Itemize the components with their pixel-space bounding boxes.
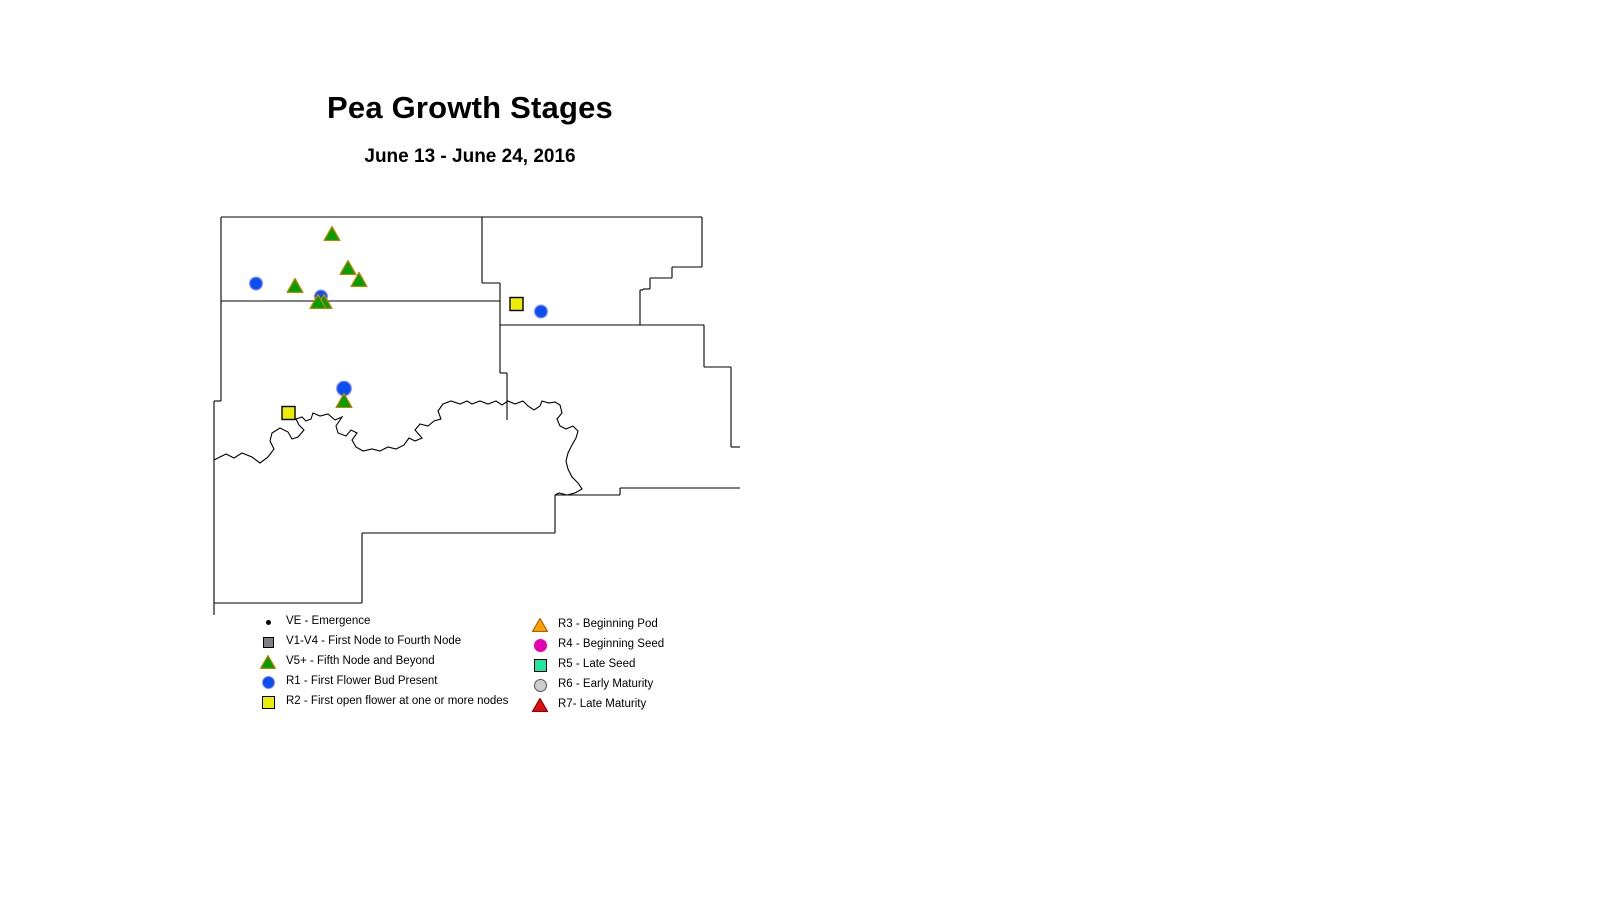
legend-left-column: VE - Emergence V1-V4 - First Node to Fou…	[258, 612, 508, 712]
legend-label: R6 - Early Maturity	[558, 679, 653, 691]
legend-label: V1-V4 - First Node to Fourth Node	[286, 636, 461, 648]
marker-r1	[534, 304, 549, 324]
marker-v5-plus	[324, 226, 341, 246]
r6-gray-circle-icon	[530, 675, 550, 695]
legend-item-r4[interactable]: R4 - Beginning Seed	[530, 635, 664, 655]
legend-item-r3[interactable]: R3 - Beginning Pod	[530, 615, 664, 635]
legend-item-r6[interactable]: R6 - Early Maturity	[530, 675, 664, 695]
title-block: Pea Growth Stages June 13 - June 24, 201…	[220, 90, 720, 168]
marker-v5-plus	[287, 278, 304, 298]
ve-dot-icon	[258, 612, 278, 632]
legend-right-column: R3 - Beginning Pod R4 - Beginning Seed R…	[530, 615, 664, 715]
legend-item-r2[interactable]: R2 - First open flower at one or more no…	[258, 692, 508, 712]
r7-red-triangle-icon	[530, 695, 550, 715]
marker-r2	[281, 406, 297, 427]
marker-v5-plus	[351, 272, 368, 292]
legend-label: VE - Emergence	[286, 616, 370, 628]
legend-label: R5 - Late Seed	[558, 659, 635, 671]
v5plus-green-triangle-icon	[258, 652, 278, 672]
page-title: Pea Growth Stages	[220, 90, 720, 126]
r2-yellow-square-icon	[258, 692, 278, 712]
marker-r2	[509, 297, 525, 318]
legend-item-ve[interactable]: VE - Emergence	[258, 612, 508, 632]
page-subtitle: June 13 - June 24, 2016	[220, 146, 720, 168]
legend-label: R4 - Beginning Seed	[558, 639, 664, 651]
v1v4-gray-square-icon	[258, 632, 278, 652]
field-markers-layer	[210, 205, 740, 615]
legend-item-r7[interactable]: R7- Late Maturity	[530, 695, 664, 715]
r4-magenta-circle-icon	[530, 635, 550, 655]
marker-v5-plus	[336, 393, 353, 413]
r3-orange-triangle-icon	[530, 615, 550, 635]
legend-item-v5-plus[interactable]: V5+ - Fifth Node and Beyond	[258, 652, 508, 672]
legend-label: R7- Late Maturity	[558, 699, 646, 711]
legend-item-r1[interactable]: R1 - First Flower Bud Present	[258, 672, 508, 692]
marker-r1	[249, 276, 264, 296]
r1-blue-circle-icon	[258, 672, 278, 692]
legend-label: R2 - First open flower at one or more no…	[286, 696, 508, 708]
legend-item-v1-v4[interactable]: V1-V4 - First Node to Fourth Node	[258, 632, 508, 652]
legend-item-r5[interactable]: R5 - Late Seed	[530, 655, 664, 675]
legend-label: R3 - Beginning Pod	[558, 619, 658, 631]
marker-v5-plus	[310, 294, 327, 314]
legend-label: R1 - First Flower Bud Present	[286, 676, 437, 688]
legend-label: V5+ - Fifth Node and Beyond	[286, 656, 435, 668]
pea-growth-stages-figure: Pea Growth Stages June 13 - June 24, 201…	[0, 0, 1612, 900]
r5-green-square-icon	[530, 655, 550, 675]
